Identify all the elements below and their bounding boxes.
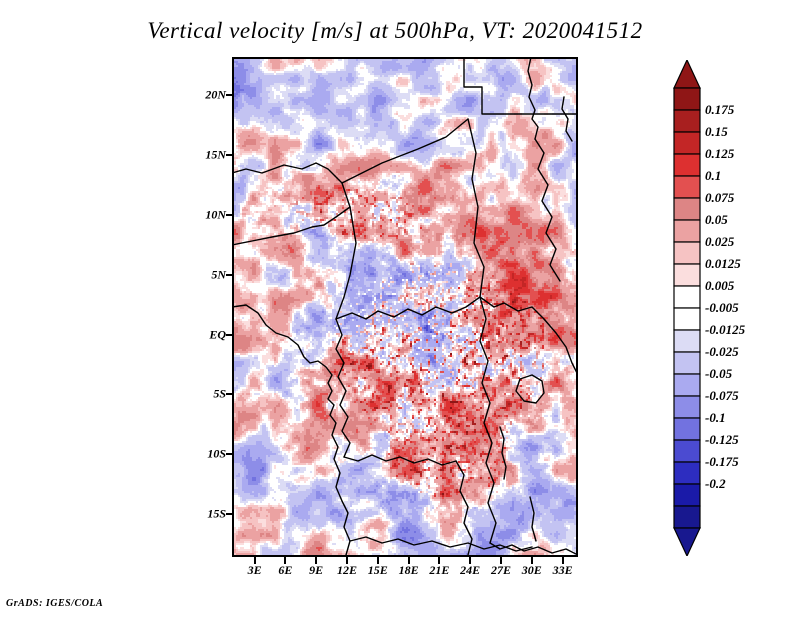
- colorbar-band: [674, 176, 700, 198]
- colorbar-label: -0.025: [705, 344, 739, 360]
- colorbar-label: 0.125: [705, 146, 734, 162]
- y-axis-tick: [226, 94, 233, 96]
- colorbar-label: -0.175: [705, 454, 739, 470]
- colorbar-band: [674, 132, 700, 154]
- colorbar-label: 0.1: [705, 168, 721, 184]
- colorbar-band: [674, 242, 700, 264]
- y-axis-tick: [226, 513, 233, 515]
- colorbar-band: [674, 154, 700, 176]
- y-axis-label: 10N: [205, 207, 226, 222]
- colorbar-label: -0.05: [705, 366, 732, 382]
- x-axis-label: 15E: [368, 563, 388, 578]
- y-axis-tick: [226, 214, 233, 216]
- y-axis-label: 5S: [213, 387, 226, 402]
- y-axis-tick: [226, 453, 233, 455]
- colorbar-label: 0.05: [705, 212, 728, 228]
- colorbar-band: [674, 396, 700, 418]
- x-axis-label: 6E: [278, 563, 292, 578]
- grads-credit: GrADS: IGES/COLA: [6, 598, 103, 609]
- colorbar-label: 0.15: [705, 124, 728, 140]
- colorbar-band: [674, 440, 700, 462]
- x-axis-label: 33E: [553, 563, 573, 578]
- colorbar-label: -0.0125: [705, 322, 745, 338]
- colorbar-arrow-min: [674, 528, 700, 556]
- x-axis-label: 12E: [337, 563, 357, 578]
- x-axis-label: 18E: [399, 563, 419, 578]
- colorbar-arrow-max: [674, 60, 700, 88]
- x-axis-label: 21E: [429, 563, 449, 578]
- colorbar-label: -0.1: [705, 410, 726, 426]
- coastline-overlay: [232, 57, 578, 557]
- colorbar-band: [674, 264, 700, 286]
- x-axis-label: 9E: [309, 563, 323, 578]
- y-axis-tick: [226, 393, 233, 395]
- colorbar-label: -0.075: [705, 388, 739, 404]
- colorbar-swatches: [672, 60, 702, 556]
- x-axis: 3E6E9E12E15E18E21E24E27E30E33E: [0, 563, 800, 583]
- y-axis-label: 5N: [211, 267, 226, 282]
- colorbar-label: -0.005: [705, 300, 739, 316]
- colorbar-band: [674, 462, 700, 484]
- colorbar-band: [674, 374, 700, 396]
- colorbar-band: [674, 484, 700, 506]
- colorbar-band: [674, 88, 700, 110]
- colorbar-band: [674, 330, 700, 352]
- y-axis-label: 15S: [207, 506, 226, 521]
- y-axis-label: 10S: [207, 447, 226, 462]
- colorbar-band: [674, 286, 700, 308]
- x-axis-label: 3E: [248, 563, 262, 578]
- colorbar-label: -0.125: [705, 432, 739, 448]
- colorbar-label: -0.2: [705, 476, 726, 492]
- colorbar-band: [674, 220, 700, 242]
- colorbar-band: [674, 418, 700, 440]
- x-axis-label: 27E: [491, 563, 511, 578]
- x-axis-label: 24E: [460, 563, 480, 578]
- map-plot: [232, 57, 578, 557]
- page-title: Vertical velocity [m/s] at 500hPa, VT: 2…: [0, 18, 790, 44]
- y-axis-tick: [226, 274, 233, 276]
- colorbar-label: 0.005: [705, 278, 734, 294]
- colorbar-band: [674, 352, 700, 374]
- colorbar-band: [674, 110, 700, 132]
- y-axis-label: 15N: [205, 148, 226, 163]
- y-axis-tick: [226, 334, 233, 336]
- y-axis-label: 20N: [205, 88, 226, 103]
- colorbar-label: 0.025: [705, 234, 734, 250]
- colorbar-label: 0.0125: [705, 256, 741, 272]
- colorbar: 0.1750.150.1250.10.0750.050.0250.01250.0…: [672, 60, 792, 560]
- colorbar-label: 0.075: [705, 190, 734, 206]
- y-axis: 20N15N10N5NEQ5S10S15S: [190, 57, 226, 557]
- colorbar-band: [674, 506, 700, 528]
- x-axis-label: 30E: [522, 563, 542, 578]
- colorbar-band: [674, 198, 700, 220]
- y-axis-label: EQ: [209, 327, 226, 342]
- colorbar-label: 0.175: [705, 102, 734, 118]
- colorbar-band: [674, 308, 700, 330]
- y-axis-tick: [226, 154, 233, 156]
